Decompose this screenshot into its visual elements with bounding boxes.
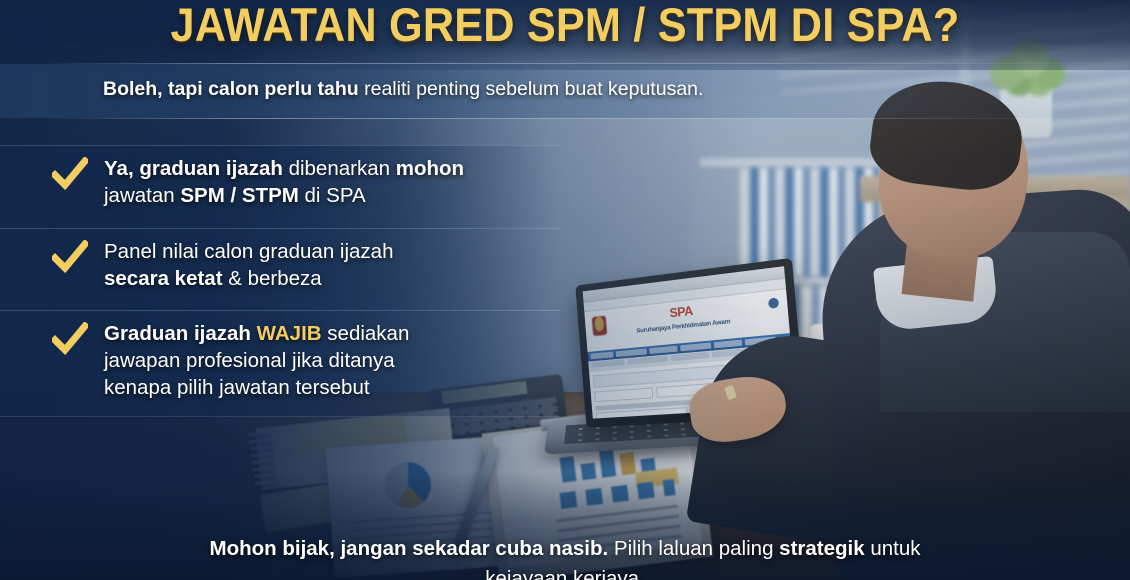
bullet3-highlight: WAJIB [257,322,322,345]
poster-root: SPA Suruhanjaya Perkhidmatan Awam [0,0,1130,580]
bullet1-line2-normal-b: di SPA [299,184,366,207]
subtitle-bold: Boleh, tapi calon perlu tahu [103,78,359,100]
check-icon [52,240,88,274]
bullet-item-3: Graduan ijazah WAJIB sediakanjawapan pro… [52,320,409,401]
footer-normal-b: untuk [865,537,921,560]
footer-bold-b: strategik [779,537,864,560]
bullet-text-3: Graduan ijazah WAJIB sediakanjawapan pro… [104,320,409,401]
bullet1-line2-normal-a: jawatan [104,184,180,207]
bullet3-line2: jawapan profesional jika ditanya [104,349,395,372]
footer-bold-a: Mohon bijak, jangan sekadar cuba nasib. [210,537,609,560]
poster-content: JAWATAN GRED SPM / STPM DI SPA? Boleh, t… [0,0,1130,580]
divider-below-subtitle [42,118,1130,119]
check-icon [52,322,88,356]
headline: JAWATAN GRED SPM / STPM DI SPA? [45,0,1085,54]
bullet3-bold: Graduan ijazah [104,322,257,345]
subtitle-rest: realiti penting sebelum buat keputusan. [359,78,704,100]
bullet1-bold-b: mohon [396,157,464,180]
footer-normal-a: Pilih laluan paling [608,537,779,560]
bullet3-normal: sediakan [322,322,410,345]
bullet2-line1: Panel nilai calon graduan ijazah [104,240,393,263]
bullet2-line2-normal: & berbeza [223,267,322,290]
bullet-text-2: Panel nilai calon graduan ijazahsecara k… [104,238,393,292]
bullet2-line2-bold: secara ketat [104,267,223,290]
bullet-text-1: Ya, graduan ijazah dibenarkan mohonjawat… [104,155,464,209]
bullet1-normal: dibenarkan [283,157,396,180]
bullet-item-2: Panel nilai calon graduan ijazahsecara k… [52,238,393,292]
bullet3-line3: kenapa pilih jawatan tersebut [104,376,370,399]
footer-line2: kejayaan kerjaya. [485,567,645,580]
bullet-item-1: Ya, graduan ijazah dibenarkan mohonjawat… [52,155,464,209]
bullet1-bold-a: Ya, graduan ijazah [104,157,283,180]
check-icon [52,157,88,191]
footer-text: Mohon bijak, jangan sekadar cuba nasib. … [0,534,1130,580]
subtitle: Boleh, tapi calon perlu tahu realiti pen… [103,78,703,101]
bullet1-line2-bold: SPM / STPM [180,184,298,207]
